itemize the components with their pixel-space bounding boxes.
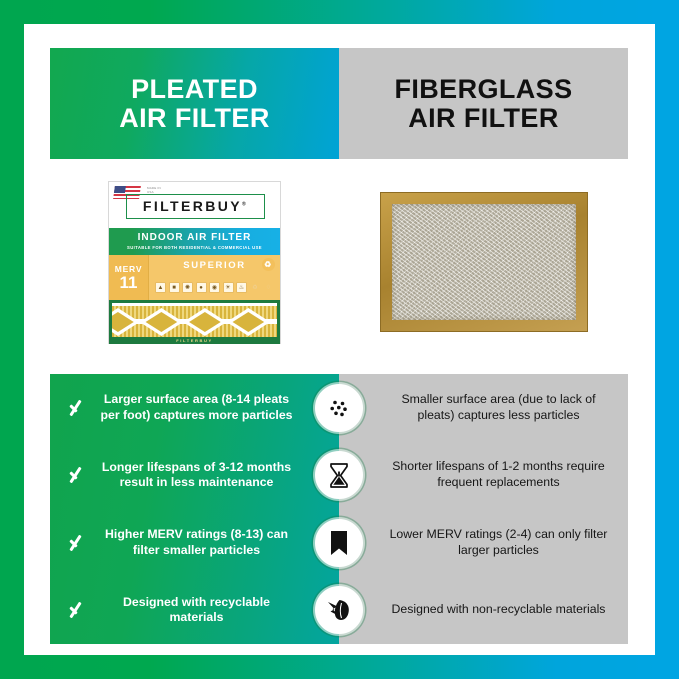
header-pleated-text: PLEATED AIR FILTER <box>119 75 269 132</box>
header-fiberglass: FIBERGLASS AIR FILTER <box>339 48 628 159</box>
dust-icon: ▲ <box>155 282 166 293</box>
pleated-brand-text: FILTERBUY <box>143 198 242 214</box>
pleated-grade-text: SUPERIOR <box>183 260 245 271</box>
mold-icon: ● <box>196 282 207 293</box>
row-right-text: Designed with non-recyclable materials <box>385 602 612 618</box>
header-fiberglass-line2: AIR FILTER <box>394 104 572 133</box>
row-left-pleated: Larger surface area (8-14 pleats per foo… <box>50 374 339 442</box>
fiberglass-product-cell <box>339 164 628 360</box>
comparison-row: Higher MERV ratings (8-13) can filter sm… <box>50 509 628 577</box>
header-pleated: PLEATED AIR FILTER <box>50 48 339 159</box>
merv-value: 11 <box>120 274 138 291</box>
debris-icon: ■ <box>169 282 180 293</box>
leaf-icon <box>315 586 363 634</box>
row-right-text: Smaller surface area (due to lack of ple… <box>385 392 612 424</box>
fiberglass-media <box>392 204 576 320</box>
pleat-fins <box>112 303 277 341</box>
check-icon <box>66 597 92 623</box>
trademark-symbol: ® <box>242 201 248 207</box>
row-left-pleated: Designed with recyclable materials <box>50 577 339 645</box>
row-left-text: Larger surface area (8-14 pleats per foo… <box>100 392 293 423</box>
pleated-spec-right: SUPERIOR ♻ ▲ ■ ✺ ● ◉ ☀ ♨ ♻ ♢ <box>149 255 280 300</box>
smoke-icon: ♨ <box>236 282 247 293</box>
comparison-block: Larger surface area (8-14 pleats per foo… <box>50 374 628 644</box>
row-right-fiberglass: Shorter lifespans of 1-2 months require … <box>339 442 628 510</box>
row-left-text: Designed with recyclable materials <box>100 595 293 626</box>
pet-dander-icon: ☀ <box>223 282 234 293</box>
product-image-row: MADE INUSA FILTERBUY® INDOOR AIR FILTER … <box>50 164 628 360</box>
bacteria-icon: ◉ <box>209 282 220 293</box>
comparison-row: Larger surface area (8-14 pleats per foo… <box>50 374 628 442</box>
pleated-band: INDOOR AIR FILTER SUITABLE FOR BOTH RESI… <box>109 228 280 255</box>
comparison-row: Designed with recyclable materials Desig… <box>50 577 628 645</box>
row-right-text: Shorter lifespans of 1-2 months require … <box>385 459 612 491</box>
pleated-product-cell: MADE INUSA FILTERBUY® INDOOR AIR FILTER … <box>50 164 339 360</box>
recycle-icon: ♻ <box>262 258 275 271</box>
pleated-filter-image: MADE INUSA FILTERBUY® INDOOR AIR FILTER … <box>108 181 281 344</box>
row-right-text: Lower MERV ratings (2-4) can only filter… <box>385 527 612 559</box>
row-left-pleated: Higher MERV ratings (8-13) can filter sm… <box>50 509 339 577</box>
header-fiberglass-line1: FIBERGLASS <box>394 75 572 104</box>
bookmark-icon <box>315 519 363 567</box>
comparison-row: Longer lifespans of 3-12 months result i… <box>50 442 628 510</box>
infographic-card: PLEATED AIR FILTER FIBERGLASS AIR FILTER… <box>24 24 655 655</box>
check-icon <box>66 530 92 556</box>
row-right-fiberglass: Designed with non-recyclable materials <box>339 577 628 645</box>
check-icon <box>66 462 92 488</box>
header-pleated-line1: PLEATED <box>119 75 269 104</box>
row-left-text: Higher MERV ratings (8-13) can filter sm… <box>100 527 293 558</box>
header-row: PLEATED AIR FILTER FIBERGLASS AIR FILTER <box>50 48 628 159</box>
particles-icon <box>315 384 363 432</box>
merv-badge: MERV 11 <box>109 255 149 300</box>
merv-label: MERV <box>115 264 143 274</box>
pleated-band-subtitle: SUITABLE FOR BOTH RESIDENTIAL & COMMERCI… <box>109 243 280 250</box>
pleated-grade: SUPERIOR ♻ <box>149 255 280 276</box>
pleated-brand: FILTERBUY® <box>143 198 248 214</box>
hourglass-icon <box>315 451 363 499</box>
row-left-text: Longer lifespans of 3-12 months result i… <box>100 460 293 491</box>
pleated-brand-box: FILTERBUY® <box>126 194 265 219</box>
check-icon <box>66 395 92 421</box>
pleated-footer-brand: FILTERBUY <box>109 337 280 344</box>
pleated-band-title: INDOOR AIR FILTER <box>109 228 280 243</box>
row-left-pleated: Longer lifespans of 3-12 months result i… <box>50 442 339 510</box>
row-right-fiberglass: Smaller surface area (due to lack of ple… <box>339 374 628 442</box>
fiberglass-filter-image <box>380 192 588 332</box>
pleated-spec-strip: MERV 11 SUPERIOR ♻ ▲ ■ ✺ ● ◉ <box>109 255 280 300</box>
row-right-fiberglass: Lower MERV ratings (2-4) can only filter… <box>339 509 628 577</box>
header-fiberglass-text: FIBERGLASS AIR FILTER <box>394 75 572 132</box>
pollen-icon: ✺ <box>182 282 193 293</box>
pleated-media: FILTERBUY <box>109 300 280 344</box>
pleated-feature-icons: ▲ ■ ✺ ● ◉ ☀ ♨ ♻ ♢ <box>149 276 280 300</box>
pleat-support-wires <box>112 303 277 341</box>
extra-icon-1: ♻ <box>250 282 261 293</box>
comparison-rows: Larger surface area (8-14 pleats per foo… <box>50 374 628 644</box>
pleated-micro-text: MADE INUSA <box>147 186 161 194</box>
extra-icon-2: ♢ <box>263 282 274 293</box>
header-pleated-line2: AIR FILTER <box>119 104 269 133</box>
